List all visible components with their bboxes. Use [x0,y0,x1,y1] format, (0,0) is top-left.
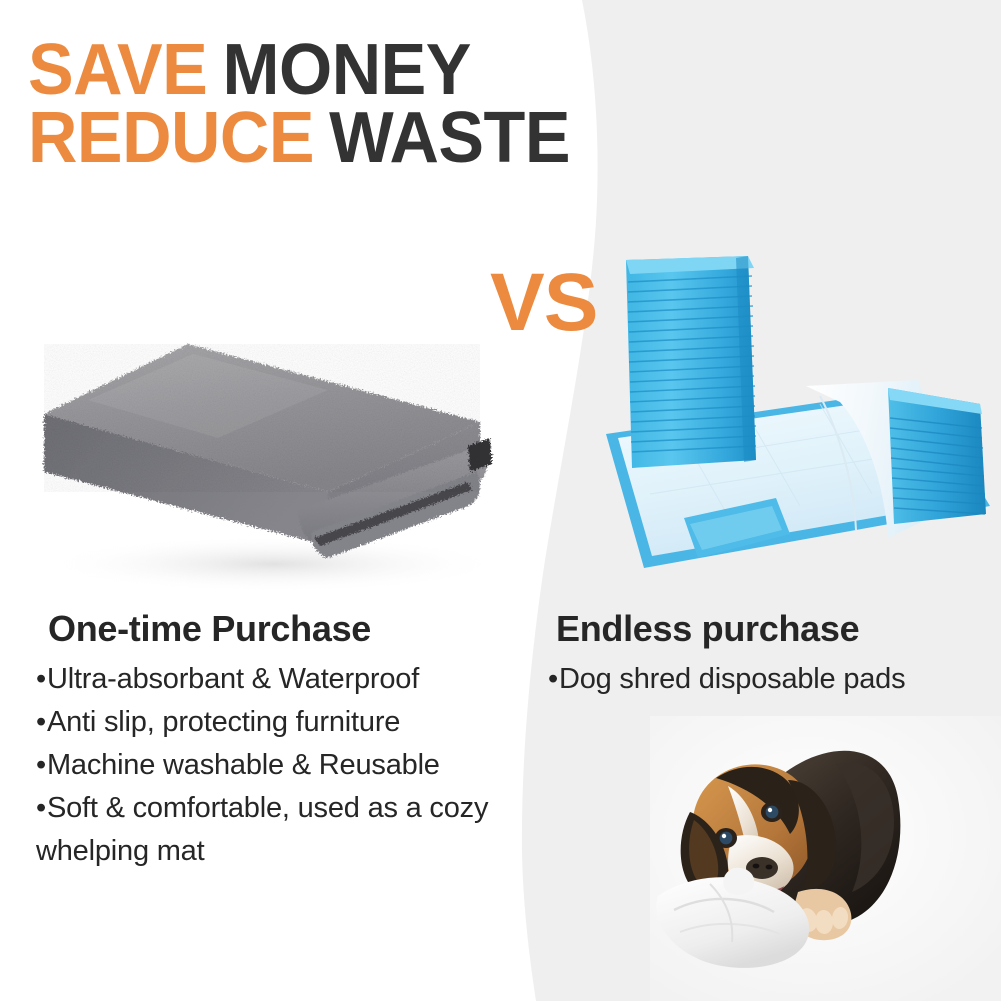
left-column-heading: One-time Purchase [36,608,536,650]
disposable-pads-image [588,238,1001,590]
list-item: Machine washable & Reusable [36,744,536,787]
right-column-heading: Endless purchase [548,608,996,650]
pad-stack-short [888,388,986,524]
left-benefits-column: One-time Purchase Ultra-absorbant & Wate… [36,608,536,873]
versus-label: VS [490,262,597,344]
right-drawbacks-column: Endless purchase Dog shred disposable pa… [548,608,996,701]
pad-stack-tall [626,256,756,468]
blanket-product-image [28,296,528,596]
list-item: Dog shred disposable pads [548,658,996,701]
left-feature-list: Ultra-absorbant & Waterproof Anti slip, … [36,658,536,873]
headline-waste-word: WASTE [329,98,570,178]
right-feature-list: Dog shred disposable pads [548,658,996,701]
headline-line-1: SAVEMONEY [28,36,570,104]
list-item: Soft & comfortable, used as a cozy whelp… [36,787,536,873]
headline-reduce-word: REDUCE [28,98,314,178]
headline: SAVEMONEY REDUCEWASTE [28,36,599,173]
list-item: Anti slip, protecting furniture [36,701,536,744]
list-item: Ultra-absorbant & Waterproof [36,658,536,701]
infographic-canvas: SAVEMONEY REDUCEWASTE VS [0,0,1001,1001]
puppy-photo [650,716,1001,1001]
headline-line-2: REDUCEWASTE [28,104,570,172]
